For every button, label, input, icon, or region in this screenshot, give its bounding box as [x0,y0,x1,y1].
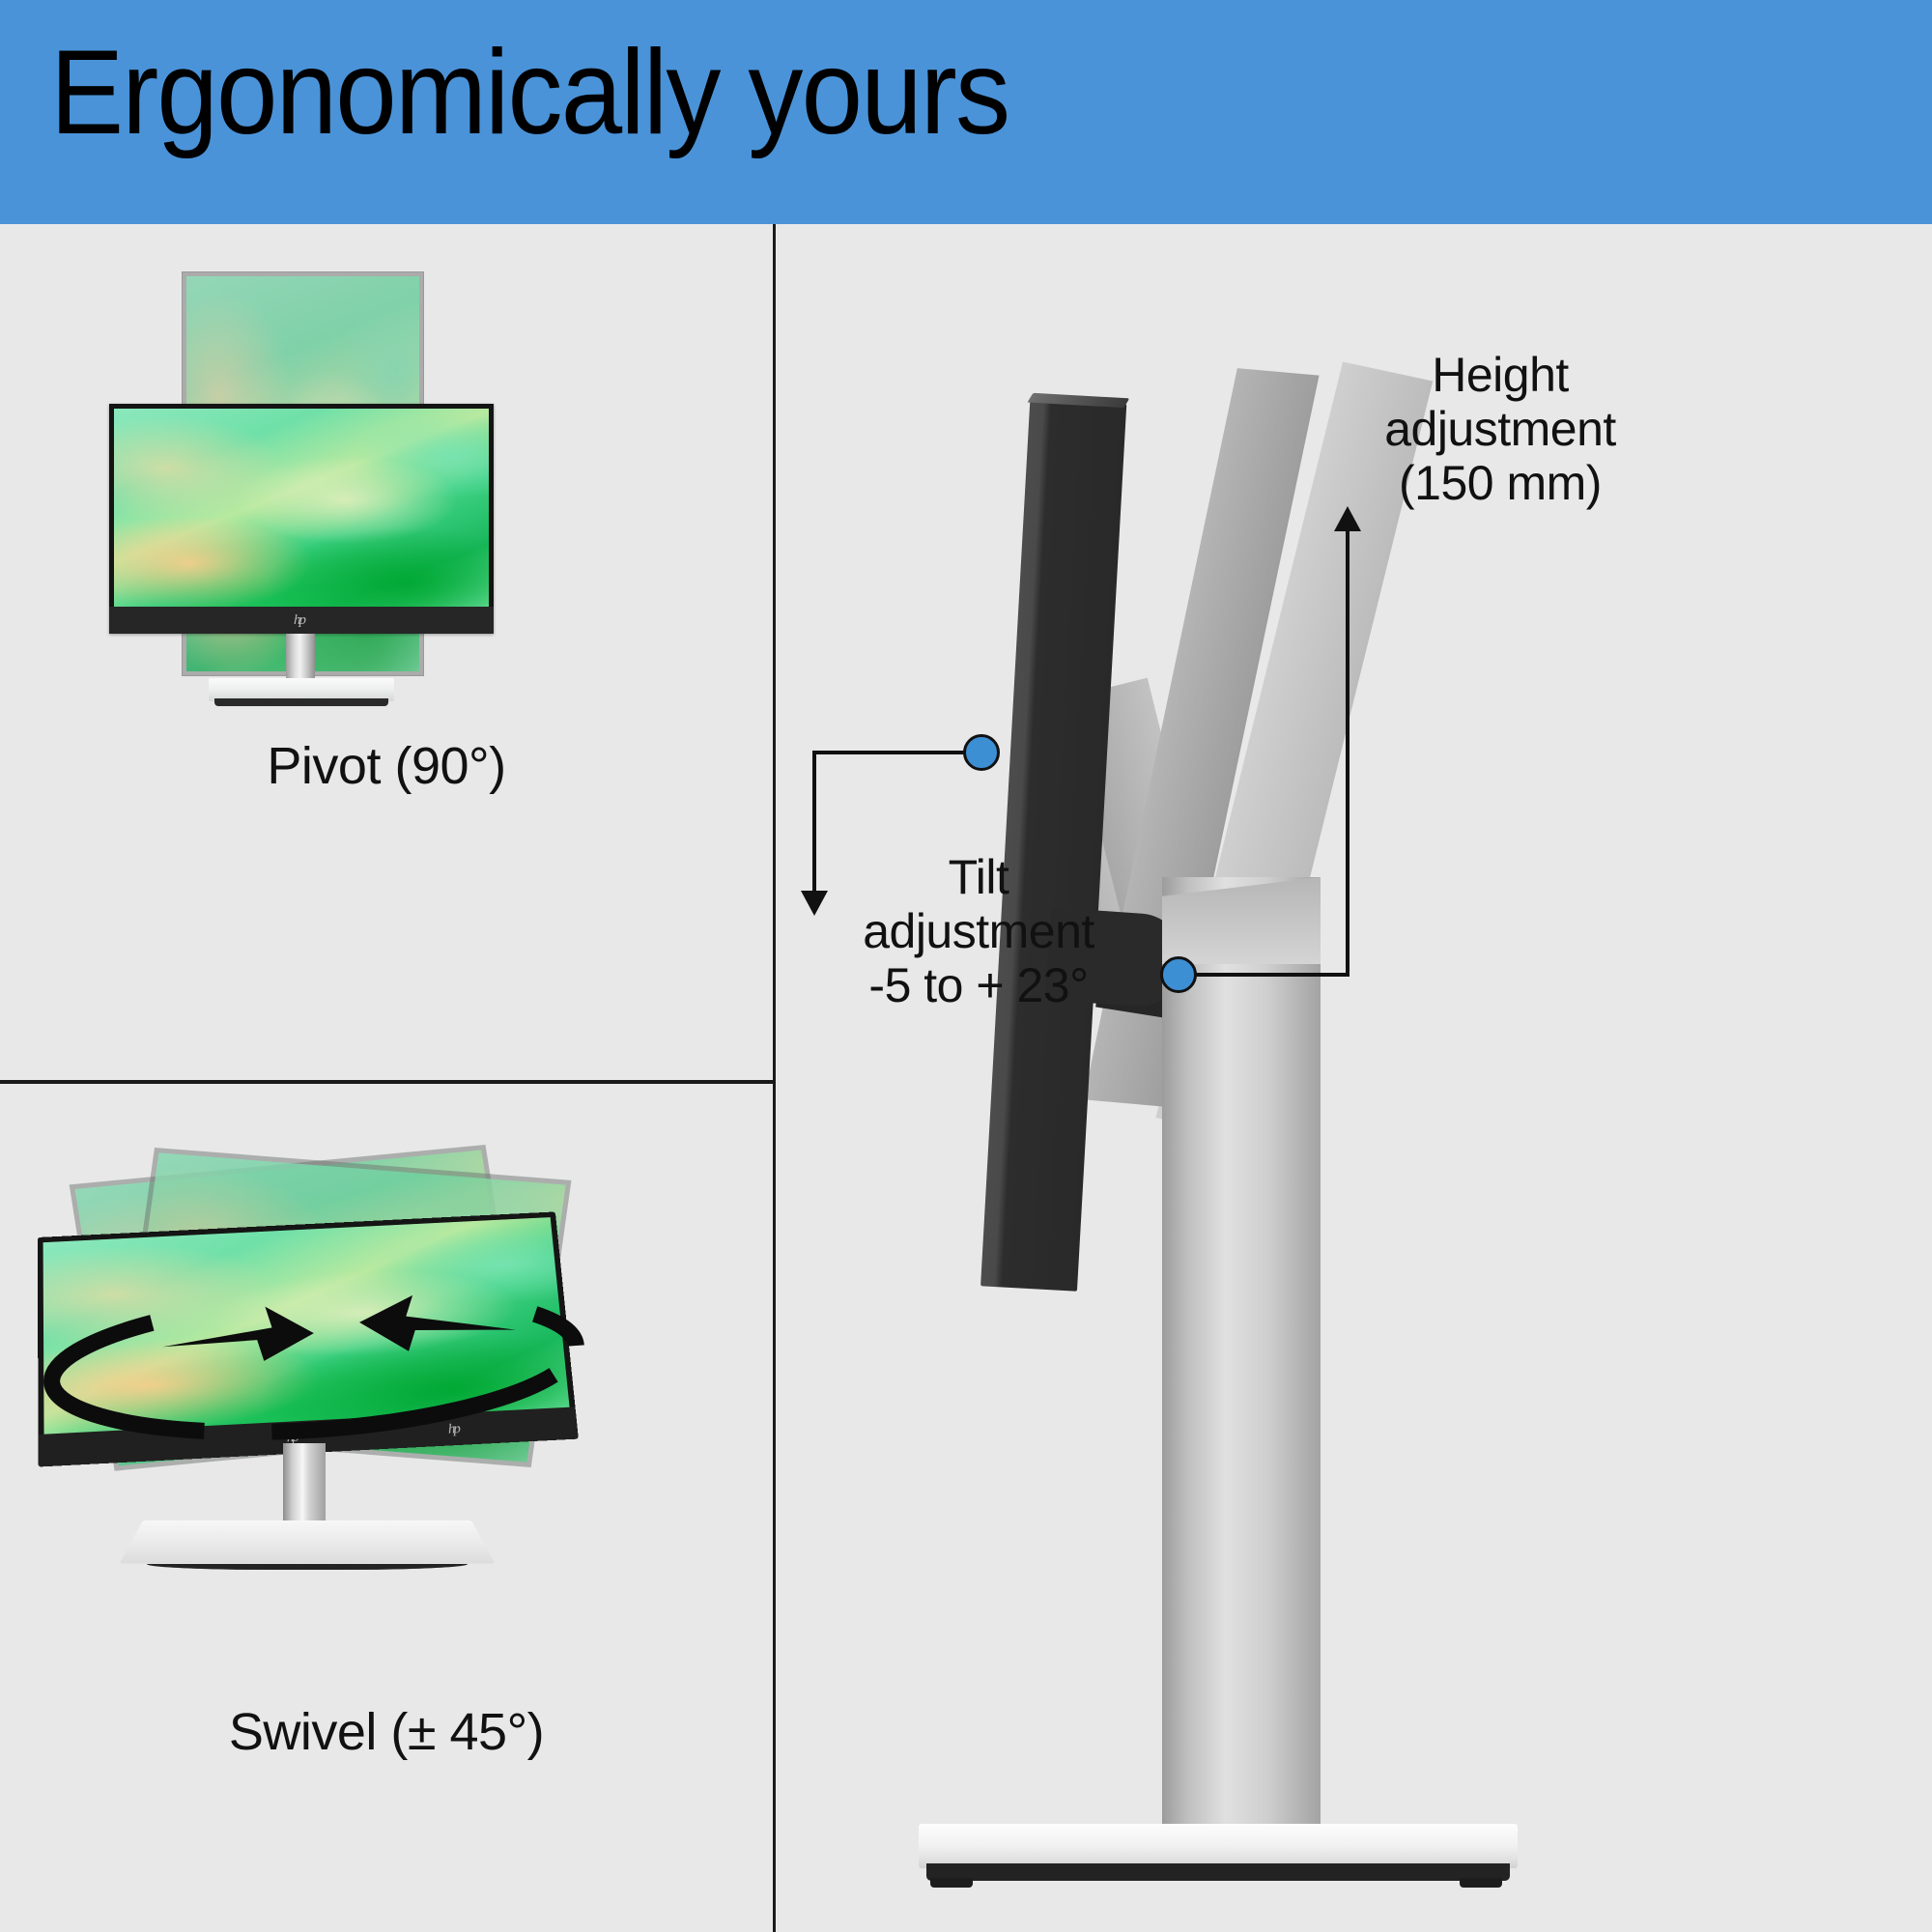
monitor-stand-base-underside [144,1564,469,1570]
height-label-line-3: (150 mm) [1230,456,1771,510]
tilt-label-line-3: -5 to + 23° [737,958,1220,1012]
pivot-caption: Pivot (90°) [0,736,773,796]
panel-swivel: hp hp Swivel (± 45°) [0,1084,773,1932]
hp-logo: hp [294,612,304,629]
wallpaper-abstract-green [114,409,489,607]
tilt-label-line-1: Tilt [737,850,1220,904]
swivel-monitor-bezel: hp hp [38,1211,579,1466]
panel-tilt-height: Tilt adjustment -5 to + 23° Height adjus… [776,224,1932,1932]
height-label-line-1: Height [1230,348,1771,402]
swivel-illustration: hp hp Swivel (± 45°) [0,1084,773,1932]
panel-pivot: hp Pivot (90°) [0,224,773,1080]
swivel-screen-art [43,1217,570,1435]
landscape-monitor: hp [109,404,494,634]
height-label-line-2: adjustment [1230,402,1771,456]
swivel-caption: Swivel (± 45°) [0,1702,773,1762]
wallpaper-abstract-green [43,1217,570,1435]
tilt-label-line-2: adjustment [737,904,1220,958]
monitor-chin-bezel: hp [109,607,494,634]
height-adjustment-label: Height adjustment (150 mm) [1230,348,1771,510]
header-banner: Ergonomically yours [0,0,1932,224]
tilt-height-illustration: Tilt adjustment -5 to + 23° Height adjus… [776,224,1932,1932]
hp-logo-secondary: hp [447,1421,459,1437]
tilt-adjustment-label: Tilt adjustment -5 to + 23° [737,850,1220,1012]
landscape-screen-art [114,409,489,607]
page-title: Ergonomically yours [50,33,1009,153]
infographic-page: Ergonomically yours hp Pivot (90°) [0,0,1932,1932]
tilt-callout-dot[interactable] [963,734,1000,771]
monitor-stand-base [120,1520,496,1564]
monitor-stand-base-underside [214,698,388,706]
swivel-front-monitor: hp hp [38,1211,579,1466]
